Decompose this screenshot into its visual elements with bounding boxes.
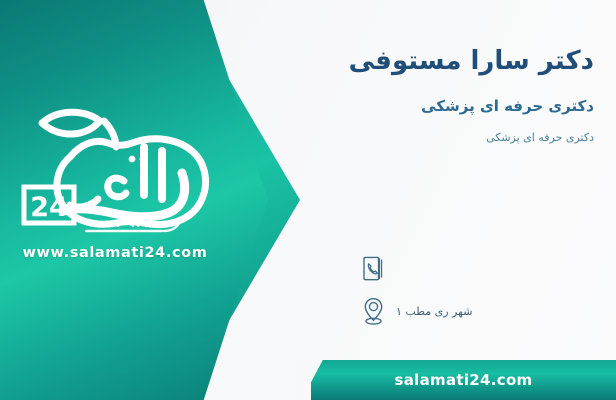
salamati-apple-logo-icon: 24 — [12, 95, 242, 245]
footer-site-text: salamati24.com — [395, 371, 533, 389]
doctor-profile-card: 24 www.salamati24.com دکتر سارا مستوفی د… — [0, 0, 616, 400]
contact-row-phone[interactable] — [358, 248, 598, 290]
doctor-specialty-sub: دکتری حرفه ای پزشکی — [486, 131, 594, 144]
contact-row-address[interactable]: شهر ری مطب ۱ — [358, 290, 598, 332]
svg-text:24: 24 — [30, 192, 68, 223]
logo-url-text: www.salamati24.com — [12, 245, 218, 261]
contact-info-block: شهر ری مطب ۱ — [358, 248, 598, 332]
footer-bar[interactable]: salamati24.com — [311, 360, 616, 400]
phone-book-icon — [358, 252, 388, 286]
brand-logo[interactable]: 24 www.salamati24.com — [12, 95, 242, 275]
doctor-name: دکتر سارا مستوفی — [349, 46, 594, 76]
location-pin-icon — [358, 294, 388, 328]
contact-address-label: شهر ری مطب ۱ — [396, 305, 472, 318]
doctor-specialty: دکتری حرفه ای پزشکی — [421, 97, 594, 115]
